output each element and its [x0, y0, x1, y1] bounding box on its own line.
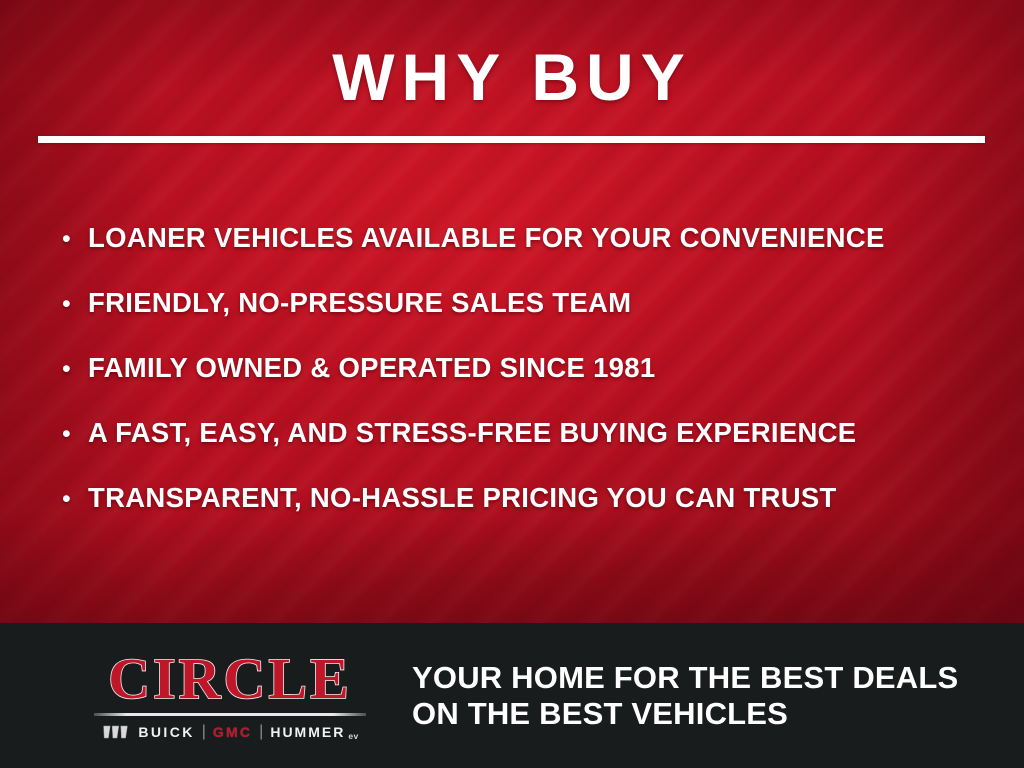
tagline-line-2: ON THE BEST VEHICLES — [412, 696, 958, 732]
logo-wordmark: CIRCLE — [84, 650, 376, 708]
buick-tri-shield-icon — [101, 725, 131, 739]
footer-bar: CIRCLE BUICK | GMC | HUMMER — [0, 623, 1024, 768]
page-title: WHY BUY — [0, 44, 1024, 110]
list-item-label: A FAST, EASY, AND STRESS-FREE BUYING EXP… — [88, 417, 856, 449]
brand-label-hummer: HUMMER — [270, 725, 345, 739]
benefits-list: • LOANER VEHICLES AVAILABLE FOR YOUR CON… — [62, 222, 982, 547]
bullet-marker-icon: • — [62, 357, 88, 382]
brand-strip: BUICK | GMC | HUMMER ev — [84, 723, 376, 741]
title-divider-rule — [38, 136, 985, 143]
list-item: • LOANER VEHICLES AVAILABLE FOR YOUR CON… — [62, 222, 982, 287]
list-item: • FRIENDLY, NO-PRESSURE SALES TEAM — [62, 287, 982, 352]
brand-separator: | — [202, 724, 206, 740]
bullet-marker-icon: • — [62, 422, 88, 447]
brand-separator: | — [259, 724, 263, 740]
bullet-marker-icon: • — [62, 487, 88, 512]
brand-label-buick: BUICK — [138, 725, 194, 739]
bullet-marker-icon: • — [62, 292, 88, 317]
why-buy-slide: WHY BUY • LOANER VEHICLES AVAILABLE FOR … — [0, 0, 1024, 768]
list-item-label: FRIENDLY, NO-PRESSURE SALES TEAM — [88, 287, 631, 319]
list-item: • TRANSPARENT, NO-HASSLE PRICING YOU CAN… — [62, 482, 982, 547]
list-item: • FAMILY OWNED & OPERATED SINCE 1981 — [62, 352, 982, 417]
footer-tagline: YOUR HOME FOR THE BEST DEALS ON THE BEST… — [412, 660, 958, 732]
list-item: • A FAST, EASY, AND STRESS-FREE BUYING E… — [62, 417, 982, 482]
list-item-label: TRANSPARENT, NO-HASSLE PRICING YOU CAN T… — [88, 482, 837, 514]
list-item-label: LOANER VEHICLES AVAILABLE FOR YOUR CONVE… — [88, 222, 885, 254]
list-item-label: FAMILY OWNED & OPERATED SINCE 1981 — [88, 352, 655, 384]
bullet-marker-icon: • — [62, 227, 88, 252]
dealership-logo: CIRCLE BUICK | GMC | HUMMER — [84, 650, 376, 741]
brand-label-ev: ev — [348, 732, 358, 742]
brand-label-gmc: GMC — [213, 725, 252, 739]
tagline-line-1: YOUR HOME FOR THE BEST DEALS — [412, 660, 958, 696]
logo-divider-rule — [94, 713, 366, 716]
